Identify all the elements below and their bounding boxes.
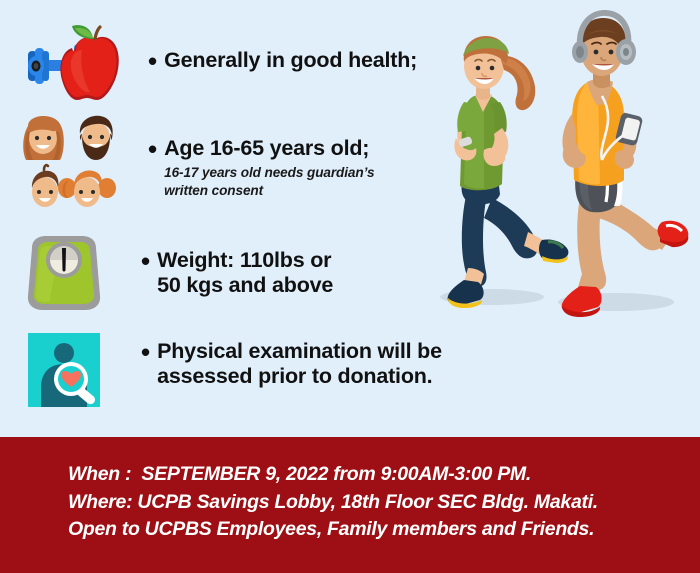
criterion-text-age-range: Age 16-65 years old; xyxy=(164,136,374,161)
banner-line-open-to: Open to UCPBS Employees, Family members … xyxy=(68,516,700,544)
bullet-marker: • xyxy=(148,136,157,162)
bullet-marker: • xyxy=(141,248,150,274)
physical-exam-icon xyxy=(14,327,114,419)
two-joggers-illustration xyxy=(430,0,700,340)
female-runner xyxy=(448,36,569,308)
criterion-weight: • Weight: 110lbs or 50 kgs and above xyxy=(14,228,333,320)
event-details-banner: When : SEPTEMBER 9, 2022 from 9:00AM-3:0… xyxy=(0,437,700,573)
banner-line-when: When : SEPTEMBER 9, 2022 from 9:00AM-3:0… xyxy=(68,461,700,489)
criterion-good-health: • Generally in good health; xyxy=(14,18,417,110)
dumbbell-apple-icon xyxy=(14,18,132,110)
bullet-marker: • xyxy=(148,48,157,74)
criterion-text-good-health: Generally in good health; xyxy=(164,48,417,73)
banner-line-where: Where: UCPB Savings Lobby, 18th Floor SE… xyxy=(68,489,700,517)
male-runner xyxy=(562,13,689,317)
criterion-subtext-guardian-consent: 16-17 years old needs guardian’s written… xyxy=(164,164,374,199)
criterion-text-weight: Weight: 110lbs or 50 kgs and above xyxy=(157,248,333,298)
bullet-marker: • xyxy=(141,339,150,365)
infographic-poster: • Generally in good health; xyxy=(0,0,700,573)
criterion-text-physical-exam: Physical examination will be assessed pr… xyxy=(157,339,442,389)
weight-scale-icon xyxy=(14,228,114,320)
criterion-age-range: • Age 16-65 years old; 16-17 years old n… xyxy=(14,110,374,214)
eligibility-criteria-list: • Generally in good health; xyxy=(0,0,470,437)
criterion-physical-exam: • Physical examination will be assessed … xyxy=(14,327,442,419)
family-faces-icon xyxy=(14,110,126,214)
